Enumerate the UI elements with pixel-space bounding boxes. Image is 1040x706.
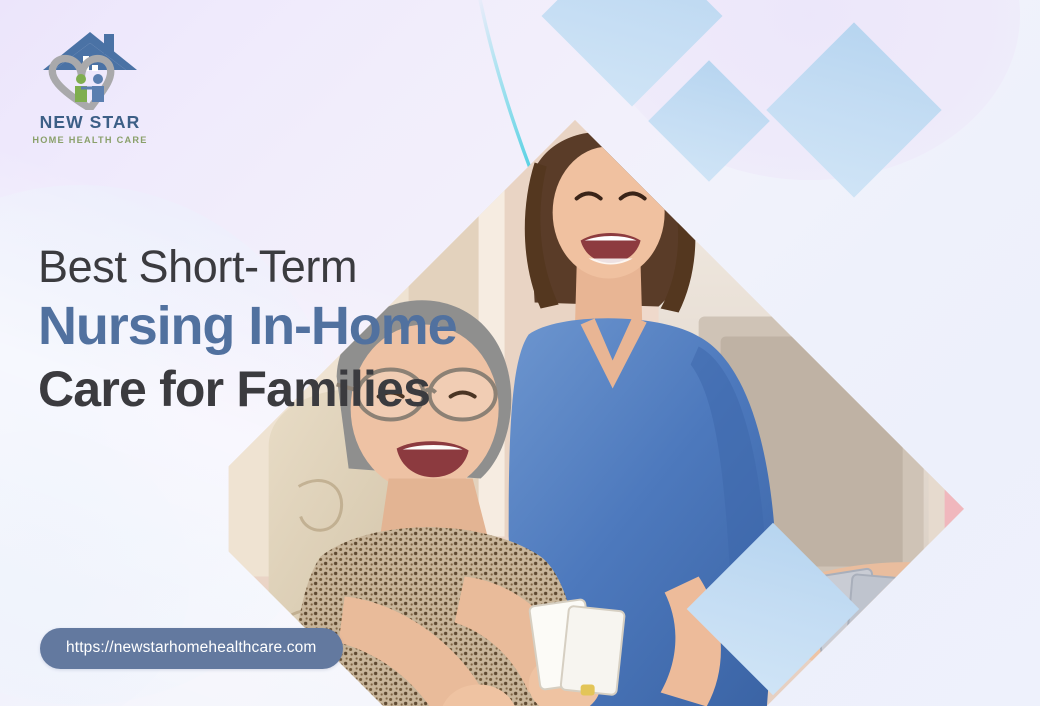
brand-name: NEW STAR (26, 112, 154, 133)
headline-line-3: Care for Families (38, 363, 618, 416)
brand-logo[interactable]: NEW STAR HOME HEALTH CARE (26, 26, 154, 145)
banner-canvas: NEW STAR HOME HEALTH CARE Best Short-Ter… (0, 0, 1040, 706)
headline-line-2: Nursing In-Home (38, 298, 618, 355)
headline-block: Best Short-Term Nursing In-Home Care for… (38, 243, 618, 415)
brand-tagline: HOME HEALTH CARE (26, 135, 154, 145)
website-url-pill[interactable]: https://newstarhomehealthcare.com (40, 628, 343, 669)
headline-line-1: Best Short-Term (38, 243, 618, 290)
house-heart-family-logo-icon (40, 26, 140, 110)
